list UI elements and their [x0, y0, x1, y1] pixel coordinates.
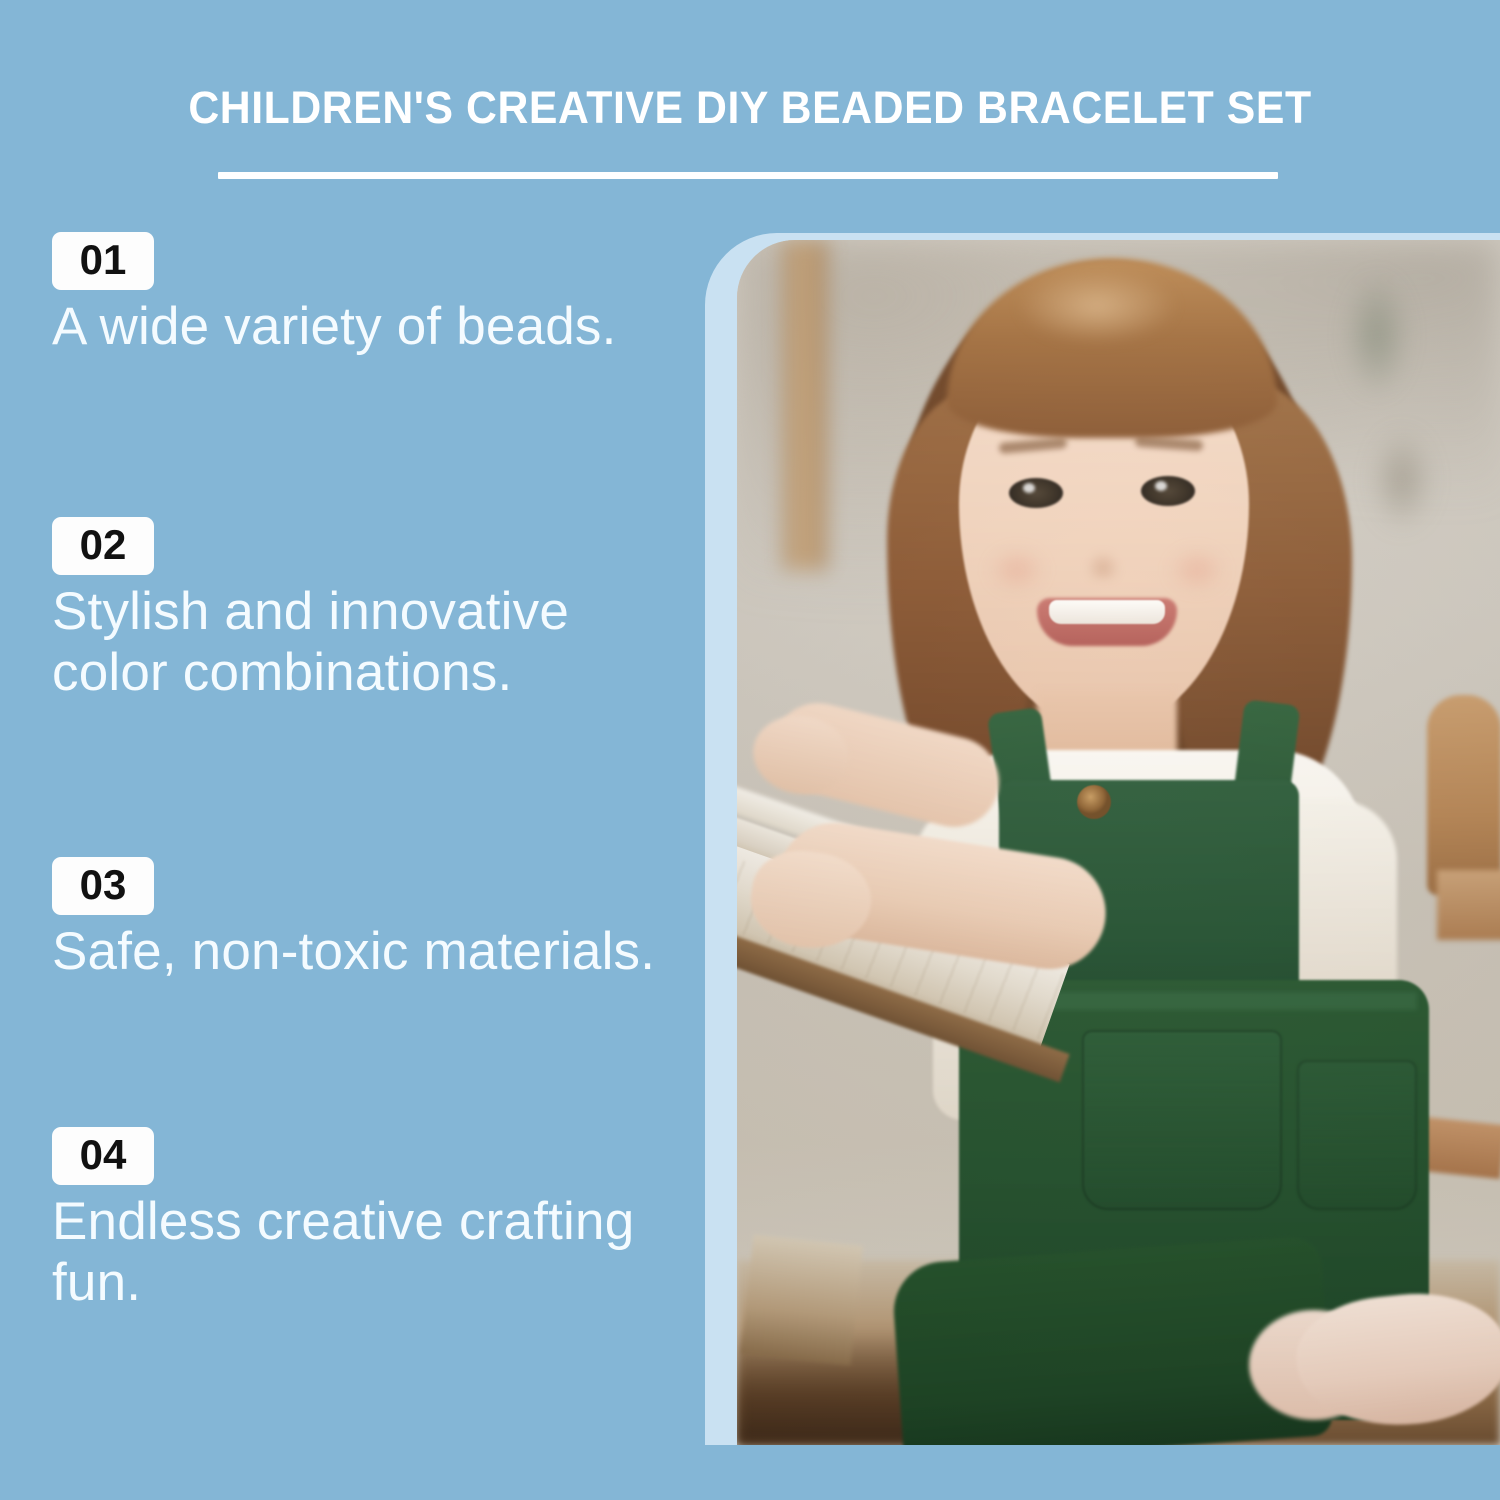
photo-wall-mark-secondary	[1367, 420, 1437, 540]
photo-bench-leg	[741, 1235, 863, 1366]
feature-description: Endless creative crafting fun.	[52, 1191, 672, 1313]
photo-wooden-post	[783, 240, 827, 570]
feature-number-badge: 03	[52, 857, 154, 915]
photo-girl-eye-highlight-left	[1023, 483, 1035, 493]
feature-item-03: 03 Safe, non-toxic materials.	[52, 857, 655, 982]
photo-wall-mark	[1337, 260, 1417, 410]
feature-number-badge: 02	[52, 517, 154, 575]
feature-item-02: 02 Stylish and innovative color combinat…	[52, 517, 672, 703]
photo-girl-teeth	[1049, 600, 1165, 624]
photo-overalls-pocket-side	[1297, 1060, 1417, 1210]
feature-description: Safe, non-toxic materials.	[52, 921, 655, 982]
photo-overalls-pocket	[1082, 1030, 1282, 1210]
photo-girl-eye-left	[1009, 478, 1063, 508]
title-divider	[218, 172, 1278, 179]
photo-chair-back	[1427, 695, 1500, 895]
feature-description: Stylish and innovative color combination…	[52, 581, 672, 703]
feature-item-01: 01 A wide variety of beads.	[52, 232, 617, 357]
photo-girl-cheek-left	[977, 540, 1057, 600]
photo-girl-eye-highlight-right	[1155, 481, 1167, 491]
page-title: CHILDREN'S CREATIVE DIY BEADED BRACELET …	[38, 82, 1463, 134]
feature-description: A wide variety of beads.	[52, 296, 617, 357]
photo-overalls-button-top	[1077, 785, 1111, 819]
feature-item-04: 04 Endless creative crafting fun.	[52, 1127, 672, 1313]
photo-girl-hair-highlight	[1002, 270, 1192, 360]
photo-girl-eye-right	[1141, 476, 1195, 506]
photo-girl-nose	[1079, 540, 1127, 580]
photo-girl-cheek-right	[1157, 540, 1237, 600]
feature-number-badge: 01	[52, 232, 154, 290]
product-lifestyle-photo	[737, 240, 1500, 1445]
product-feature-poster: CHILDREN'S CREATIVE DIY BEADED BRACELET …	[0, 0, 1500, 1500]
feature-number-badge: 04	[52, 1127, 154, 1185]
